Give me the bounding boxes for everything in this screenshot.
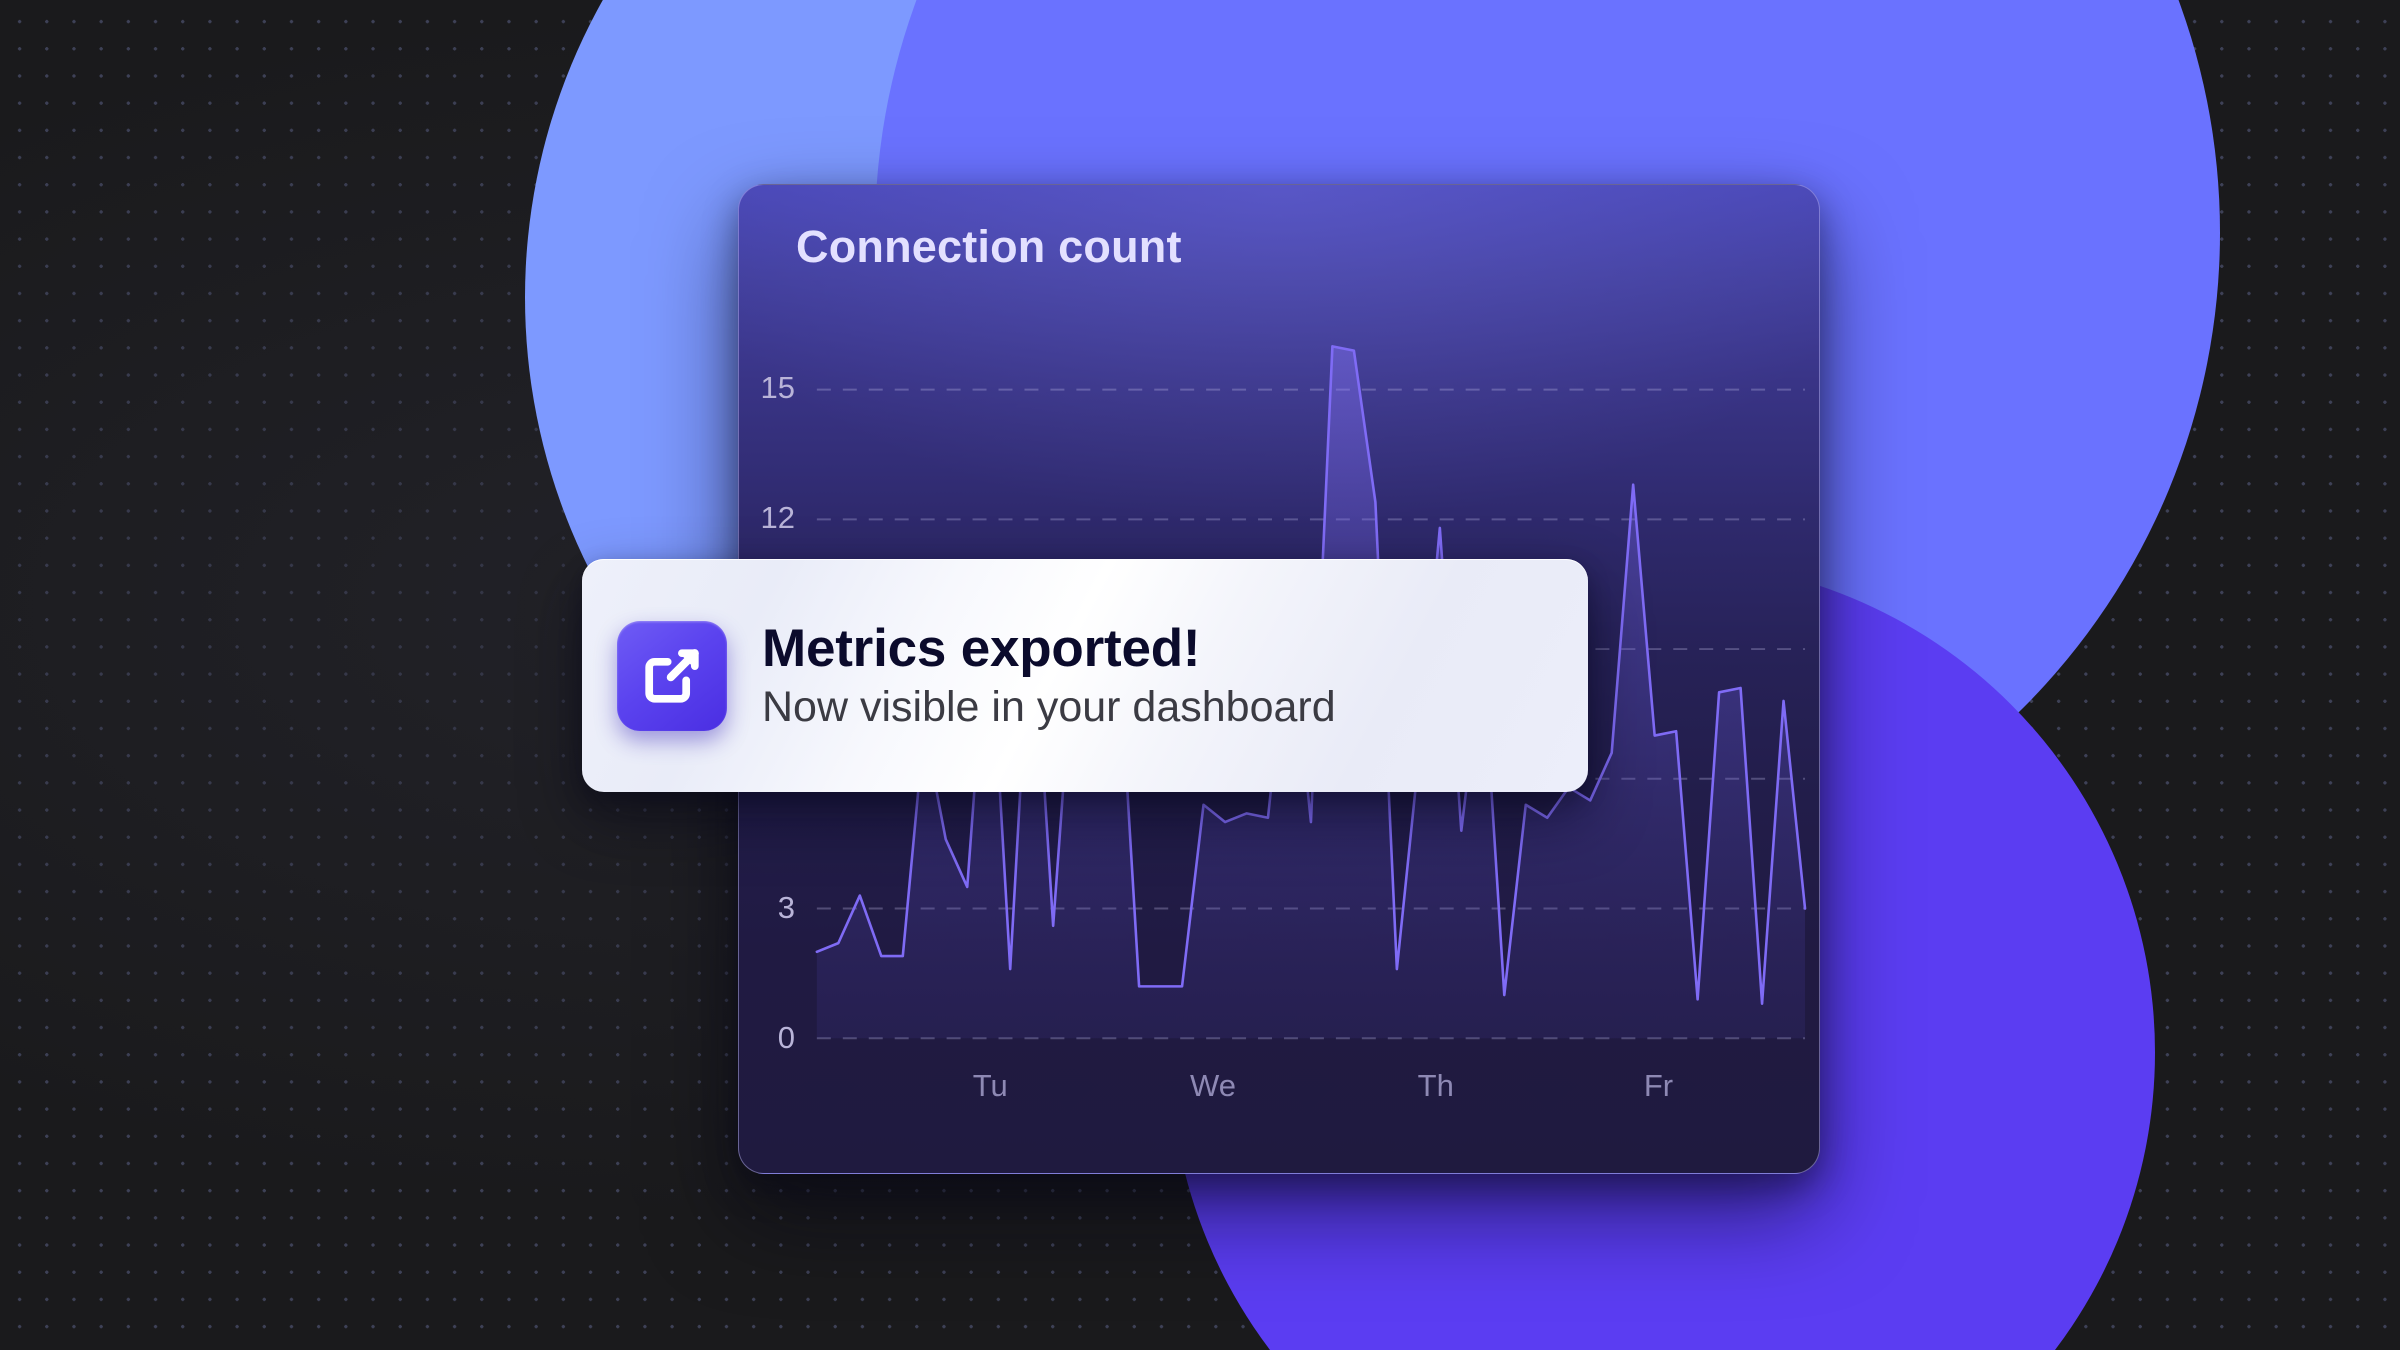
chart-x-tick-label: Fr bbox=[1614, 1068, 1704, 1104]
toast-notification[interactable]: Metrics exported! Now visible in your da… bbox=[582, 559, 1588, 792]
chart-x-tick-label: We bbox=[1168, 1068, 1258, 1104]
chart-y-tick-label: 12 bbox=[749, 500, 795, 536]
external-link-icon bbox=[617, 621, 727, 731]
toast-subtitle: Now visible in your dashboard bbox=[762, 683, 1336, 731]
toast-text-block: Metrics exported! Now visible in your da… bbox=[762, 620, 1336, 730]
toast-title: Metrics exported! bbox=[762, 620, 1336, 677]
chart-x-tick-label: Th bbox=[1391, 1068, 1481, 1104]
screenshot-root: Connection count 03691215 TuWeThFr bbox=[0, 0, 2400, 1350]
chart-x-tick-label: Tu bbox=[945, 1068, 1035, 1104]
chart-y-tick-label: 15 bbox=[749, 370, 795, 406]
chart-y-tick-label: 3 bbox=[749, 890, 795, 926]
page-title: Connection count bbox=[796, 221, 1182, 273]
chart-y-tick-label: 0 bbox=[749, 1020, 795, 1056]
